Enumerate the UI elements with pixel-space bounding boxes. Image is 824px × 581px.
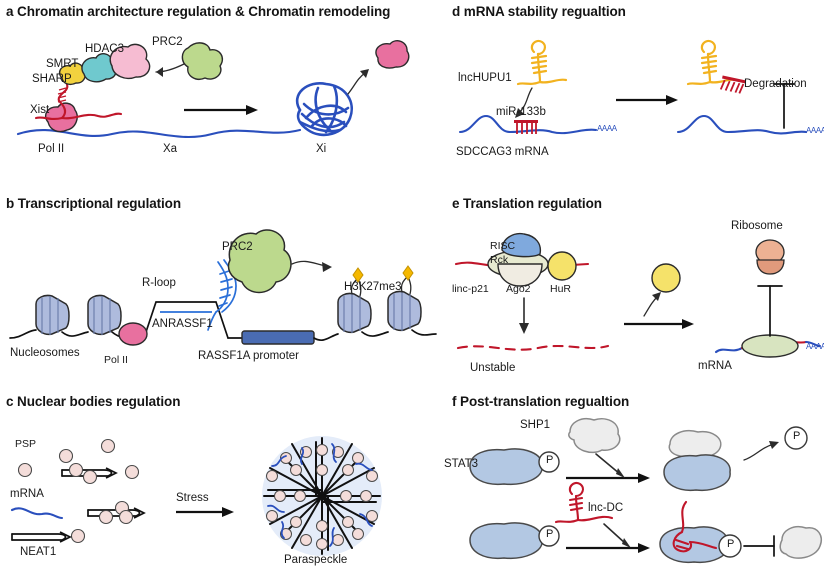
sdccag3-mrna-line-right (678, 116, 806, 133)
unstable-mrna-dashed (458, 346, 608, 350)
prc2-spread-arrowhead (322, 262, 332, 272)
label-ribosome: Ribosome (731, 220, 783, 232)
label-xi: Xi (316, 143, 326, 155)
stress-arrow-head (222, 507, 234, 517)
lnchupu1-rna-left (518, 41, 566, 84)
dna-backbone-right2 (362, 332, 388, 336)
label-rck: Rck (490, 254, 508, 266)
panel-a-title: a Chromatin architecture regulation & Ch… (6, 4, 390, 19)
dna-backbone-left (10, 330, 36, 338)
nucleosome-4 (388, 266, 421, 331)
panel-d-title: d mRNA stability regualtion (452, 4, 626, 19)
label-p-released: P (793, 430, 800, 442)
lncdc-bind-arrow-head (622, 538, 631, 548)
label-p-lower: P (546, 528, 553, 540)
label-xist: Xist (30, 104, 49, 116)
label-hur: HuR (550, 283, 571, 295)
label-xa: Xa (163, 143, 177, 155)
hur-protein (548, 252, 576, 280)
dna-backbone-right3 (412, 330, 436, 335)
panel-f-title: f Post-translation regualtion (452, 394, 629, 409)
label-degradation: Degradation (744, 78, 807, 90)
label-prc2-a: PRC2 (152, 36, 183, 48)
label-anrassf1: ANRASSF1 (152, 318, 213, 330)
mir133b-duplex-right (721, 76, 746, 94)
label-lncdc: lnc-DC (588, 502, 623, 514)
sdccag3-mrna-line (460, 116, 596, 133)
hur-release-arrow (644, 296, 658, 316)
mrna-squiggle-c (12, 508, 62, 518)
label-mir133b: miR-133b (496, 106, 546, 118)
hur-released (652, 264, 680, 292)
panel-f: f Post-translation regualtion (448, 390, 824, 581)
prc2-recruit-arrowhead (156, 67, 163, 77)
neat1-strand-2 (88, 502, 144, 524)
label-polya-e: AAAA (806, 342, 824, 351)
pol2-release-arrow (348, 72, 366, 94)
shp1-blocked-blob (780, 527, 821, 558)
label-unstable: Unstable (470, 362, 515, 374)
label-psp: PSP (15, 438, 36, 450)
process-arrow-d-head (666, 95, 678, 105)
neat1-strand-1 (62, 464, 116, 484)
stat3-docked (664, 455, 730, 490)
panel-c-title: c Nuclear bodies regulation (6, 394, 180, 409)
label-stress: Stress (176, 492, 209, 504)
label-shp1: SHP1 (520, 419, 550, 431)
degrade-arrow-head (519, 323, 529, 334)
label-sharp: SHARP (32, 73, 72, 85)
label-ago2: Ago2 (506, 283, 531, 295)
label-mrna-c: mRNA (10, 488, 44, 500)
shp1-blob-top (569, 419, 620, 453)
stat3-blob-lower (470, 523, 542, 558)
panel-d-graphic (448, 22, 824, 182)
panel-a-graphic (0, 22, 440, 182)
label-polya-left: AAAA (597, 124, 617, 133)
label-h3k27me3: H3K27me3 (344, 281, 402, 293)
label-p-upper: P (546, 454, 553, 466)
panel-e: e Translation regulation (448, 192, 824, 387)
label-nucleosomes: Nucleosomes (10, 347, 80, 359)
process-arrow-a-head (246, 105, 258, 115)
label-p-bound: P (727, 538, 734, 550)
rassf1a-promoter-box (242, 331, 314, 344)
nucleosome-2 (88, 295, 121, 335)
label-prc2-b: PRC2 (222, 241, 253, 253)
label-smrt: SMRT (46, 58, 78, 70)
process-arrow-f-upper-head (638, 473, 650, 483)
stat3-lncdc-bound (660, 527, 728, 562)
h3k27me3-mark-1 (353, 268, 363, 282)
panel-e-title: e Translation regulation (452, 196, 602, 211)
label-risc: RISC (490, 240, 515, 252)
prc2-spread-arrow (292, 261, 326, 266)
label-neat1: NEAT1 (20, 546, 56, 558)
xist-rna-tail2 (36, 118, 62, 119)
pol2-blob-released (376, 41, 409, 68)
psp-circle-3 (102, 440, 115, 453)
panel-c-graphic (0, 418, 440, 578)
prc2-protein-b (229, 230, 291, 293)
label-pol2-a: Pol II (38, 143, 64, 155)
label-pol2-b: Pol II (104, 354, 128, 366)
shp1-bind-arrow-head (616, 468, 625, 478)
dna-backbone-mid1 (62, 332, 88, 336)
panel-d: d mRNA stability regualtion (448, 0, 824, 185)
p-release-arrow (744, 444, 774, 460)
psp-circle-2 (60, 450, 73, 463)
nucleosome-3 (338, 268, 371, 333)
nucleosome-1 (36, 295, 69, 335)
label-sdccag3: SDCCAG3 mRNA (456, 146, 549, 158)
label-rloop: R-loop (142, 277, 176, 289)
prc2-protein-a (182, 43, 222, 79)
label-polya-right: AAAA (806, 126, 824, 135)
ribosome-shape (756, 240, 784, 274)
label-stat3: STAT3 (444, 458, 478, 470)
ago2-on-mrna (742, 335, 798, 357)
h3k27me3-mark-2 (403, 266, 413, 280)
panel-f-graphic (448, 416, 824, 578)
panel-c: c Nuclear bodies regulation (0, 390, 440, 581)
label-rassf1a-promoter: RASSF1A promoter (198, 350, 299, 362)
label-mrna-e: mRNA (698, 360, 732, 372)
label-lincp21: linc-p21 (452, 283, 489, 295)
shp1-docked (669, 431, 720, 459)
label-paraspeckle: Paraspeckle (284, 554, 347, 566)
psp-circle-1 (19, 464, 32, 477)
panel-b-title: b Transcriptional regulation (6, 196, 181, 211)
neat1-strand-labeled (12, 532, 70, 542)
dna-backbone-right1 (314, 334, 338, 340)
label-hdac3: HDAC3 (85, 43, 124, 55)
p-release-arrowhead (769, 441, 779, 449)
mrna-right-blue-left (716, 348, 742, 352)
psp-circle-4 (126, 466, 139, 479)
pol2-ellipse-b (119, 323, 147, 345)
psp-circle-5 (72, 530, 85, 543)
panel-b: b Transcriptional regulation (0, 192, 440, 387)
stat3-blob-upper (470, 449, 542, 484)
hur-release-arrowhead (652, 292, 661, 301)
shp1-bind-arrow-line (596, 454, 620, 474)
label-lnchupu1: lncHUPU1 (458, 72, 512, 84)
panel-a: a Chromatin architecture regulation & Ch… (0, 0, 440, 185)
process-arrow-e-head (682, 319, 694, 329)
paraspeckle-body (262, 436, 382, 556)
lncdc-bind-arrow-line (604, 524, 626, 544)
xi-tangle (297, 83, 352, 135)
process-arrow-f-lower-head (638, 543, 650, 553)
